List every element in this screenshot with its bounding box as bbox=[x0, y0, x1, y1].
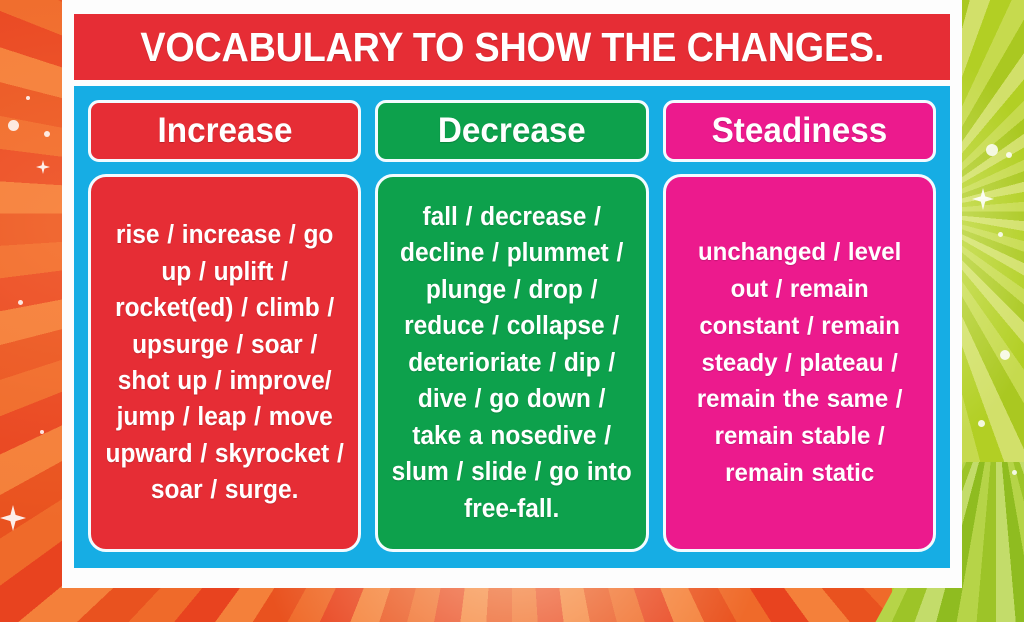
poster-card: VOCABULARY TO SHOW THE CHANGES. Increase… bbox=[62, 0, 962, 588]
column-word-list: unchanged / level out / remain constant … bbox=[679, 234, 920, 491]
column-body-increase: rise / increase / go up / uplift / rocke… bbox=[88, 174, 361, 552]
column-header-label: Steadiness bbox=[712, 111, 888, 151]
column-header-decrease[interactable]: Decrease bbox=[375, 100, 648, 162]
sparkle-dot bbox=[8, 120, 19, 131]
sparkle-dot bbox=[998, 232, 1003, 237]
sparkle-dot bbox=[978, 420, 985, 427]
sparkle-dot bbox=[986, 144, 998, 156]
poster-backdrop: VOCABULARY TO SHOW THE CHANGES. Increase… bbox=[0, 0, 1024, 622]
vocabulary-panel: Increase rise / increase / go up / uplif… bbox=[74, 86, 950, 568]
column-word-list: fall / decrease / decline / plummet / pl… bbox=[391, 199, 632, 527]
column-body-steadiness: unchanged / level out / remain constant … bbox=[663, 174, 936, 552]
column-header-increase[interactable]: Increase bbox=[88, 100, 361, 162]
column-increase: Increase rise / increase / go up / uplif… bbox=[88, 100, 361, 552]
sparkle-dot bbox=[1006, 152, 1012, 158]
column-header-label: Decrease bbox=[438, 111, 586, 151]
column-body-decrease: fall / decrease / decline / plummet / pl… bbox=[375, 174, 648, 552]
sparkle-dot bbox=[1012, 470, 1017, 475]
column-word-list: rise / increase / go up / uplift / rocke… bbox=[104, 217, 345, 509]
page-title: VOCABULARY TO SHOW THE CHANGES. bbox=[140, 24, 884, 71]
sparkle-dot bbox=[1000, 350, 1010, 360]
sparkle-dot bbox=[18, 300, 23, 305]
sparkle-dot bbox=[44, 131, 50, 137]
column-header-steadiness[interactable]: Steadiness bbox=[663, 100, 936, 162]
sparkle-dot bbox=[26, 96, 30, 100]
column-header-label: Increase bbox=[157, 111, 292, 151]
column-steadiness: Steadiness unchanged / level out / remai… bbox=[663, 100, 936, 552]
sparkle-dot bbox=[40, 430, 44, 434]
column-decrease: Decrease fall / decrease / decline / plu… bbox=[375, 100, 648, 552]
poster-title-bar: VOCABULARY TO SHOW THE CHANGES. bbox=[74, 14, 950, 80]
